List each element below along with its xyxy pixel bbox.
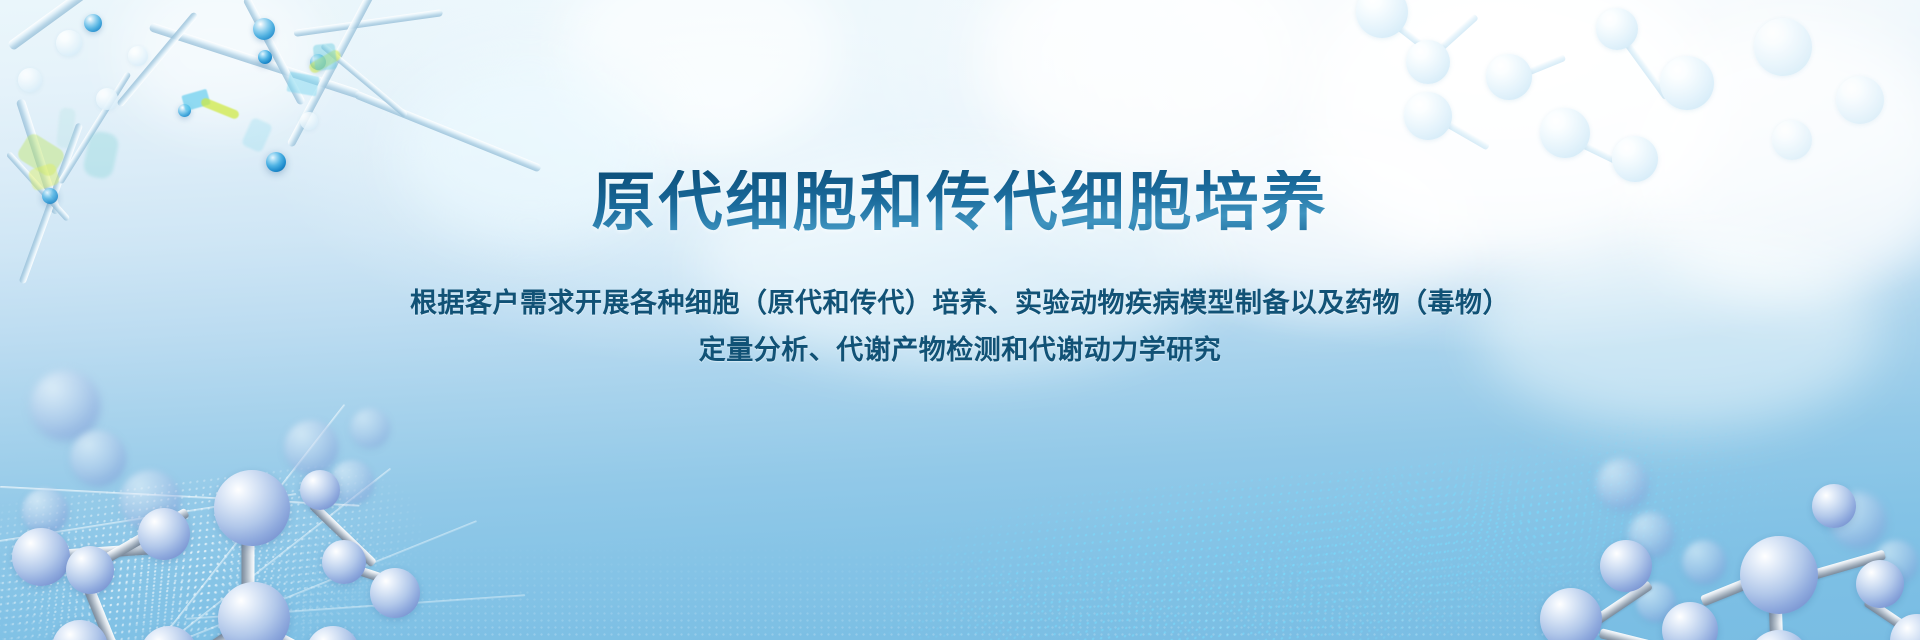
mesh-sheet [0, 507, 447, 640]
dna-node [253, 18, 275, 40]
molecule-atom [70, 430, 126, 486]
molecule-atom [1406, 40, 1450, 84]
molecule-atom [1404, 92, 1452, 140]
dna-strand [57, 71, 131, 184]
bokeh-blob [120, 0, 320, 130]
dna-node [258, 50, 272, 64]
dna-strand [149, 22, 361, 99]
dna-strand [294, 9, 444, 37]
molecule-bond [1581, 580, 1653, 633]
mesh-sheet [300, 540, 1600, 640]
molecule-atom [1356, 0, 1408, 38]
subtitle-line-1: 根据客户需求开展各种细胞（原代和传代）培养、实验动物疾病模型制备以及药物（毒物） [0, 280, 1920, 327]
molecule-atom [322, 540, 366, 584]
molecule-bond [1424, 108, 1490, 150]
molecule-atom [214, 470, 290, 546]
dna-basepair-chip [56, 107, 76, 148]
molecule-bond [1499, 54, 1567, 87]
molecule-atom [330, 460, 374, 504]
molecule-atom [1740, 536, 1818, 614]
dna-basepair-chip [241, 117, 273, 153]
dna-basepair-chip [313, 43, 338, 71]
dna-strand [7, 0, 134, 51]
molecule-atom [306, 626, 360, 640]
molecule-atom [300, 470, 340, 510]
molecule-atom [12, 528, 70, 586]
mesh-filament [180, 520, 477, 640]
dna-basepair-chip [181, 89, 210, 112]
dna-node [56, 30, 82, 56]
dna-node [266, 152, 286, 172]
dna-node [128, 46, 148, 66]
molecule-atom [1600, 540, 1652, 592]
dna-strand [354, 90, 542, 172]
dna-node [300, 112, 318, 130]
molecule-atom [1874, 540, 1918, 584]
mesh-filament [159, 404, 345, 640]
molecule-atom [1754, 18, 1812, 76]
molecule-atom [1772, 120, 1812, 160]
bokeh-blob [1620, 20, 1920, 300]
molecule-atom [1596, 458, 1648, 510]
mesh-filament [186, 594, 525, 620]
molecule-atom [138, 508, 190, 560]
mesh-filament [0, 493, 296, 542]
molecule-atom [1636, 582, 1676, 622]
dna-strand [286, 0, 378, 148]
molecule-atom [284, 420, 338, 474]
molecule-bond [1768, 566, 1784, 640]
molecule-bond [253, 621, 340, 640]
molecule-atom [1540, 108, 1590, 158]
molecule-atom [1830, 492, 1886, 548]
mesh-filament [0, 486, 360, 507]
page-banner: 原代细胞和传代细胞培养 根据客户需求开展各种细胞（原代和传代）培养、实验动物疾病… [0, 0, 1920, 640]
molecule-bond [1599, 628, 1695, 640]
dna-node [96, 88, 118, 110]
molecule-atom [22, 488, 68, 534]
dna-basepair-chip [308, 48, 343, 75]
bokeh-blob [560, 0, 840, 150]
molecule-bond [77, 569, 123, 640]
molecule-atom [140, 626, 198, 640]
molecule-atom [1748, 630, 1810, 640]
molecule-atom [1682, 540, 1726, 584]
molecule-atom [1812, 484, 1856, 528]
molecule-bond [309, 501, 377, 567]
molecule-atom [1856, 560, 1904, 608]
dna-strand [320, 43, 408, 118]
dna-node [178, 104, 191, 117]
mesh-filament [169, 468, 391, 640]
molecule-atom [1836, 76, 1884, 124]
molecule-atom [120, 470, 180, 530]
dna-strand [116, 11, 198, 107]
dna-basepair-chip [200, 97, 240, 120]
molecule-atom [350, 408, 390, 448]
molecule-atom [218, 582, 290, 640]
page-title: 原代细胞和传代细胞培养 [0, 170, 1920, 234]
molecule-atom [52, 620, 108, 640]
dna-basepair-chip [286, 72, 319, 97]
molecule-atom [1540, 588, 1602, 640]
molecule-bond [1558, 130, 1628, 169]
molecule-bond [90, 508, 190, 572]
dna-node [84, 14, 102, 32]
molecule-atom [1628, 512, 1674, 558]
molecule-bond [1617, 31, 1670, 100]
molecule-atom [370, 568, 420, 618]
molecule-bond [160, 625, 241, 640]
dna-node [310, 54, 326, 70]
molecule-atom [30, 370, 100, 440]
mesh-sheet [866, 429, 1795, 640]
mesh-sheet [1172, 372, 1889, 640]
molecule-bond [339, 560, 414, 592]
molecule-atom [1660, 56, 1714, 110]
molecule-bond [1863, 597, 1918, 639]
subtitle-line-2: 定量分析、代谢产物检测和代谢动力学研究 [0, 327, 1920, 374]
molecule-bond [1382, 13, 1445, 64]
bokeh-blob [980, 0, 1310, 180]
dna-node [18, 68, 42, 92]
molecule-bond [1700, 564, 1784, 606]
molecule-atom [1890, 614, 1920, 640]
mesh-sheet [0, 440, 507, 640]
molecule-bond [1424, 13, 1479, 64]
molecule-bond [242, 497, 255, 617]
molecule-atom [1662, 602, 1718, 640]
molecule-atom [66, 546, 114, 594]
banner-subtitle: 根据客户需求开展各种细胞（原代和传代）培养、实验动物疾病模型制备以及药物（毒物）… [0, 280, 1920, 374]
molecule-atom [1486, 54, 1532, 100]
dna-strand [242, 0, 305, 106]
molecule-bond [1805, 550, 1887, 582]
molecule-bond [56, 543, 161, 561]
molecule-atom [1596, 8, 1638, 50]
